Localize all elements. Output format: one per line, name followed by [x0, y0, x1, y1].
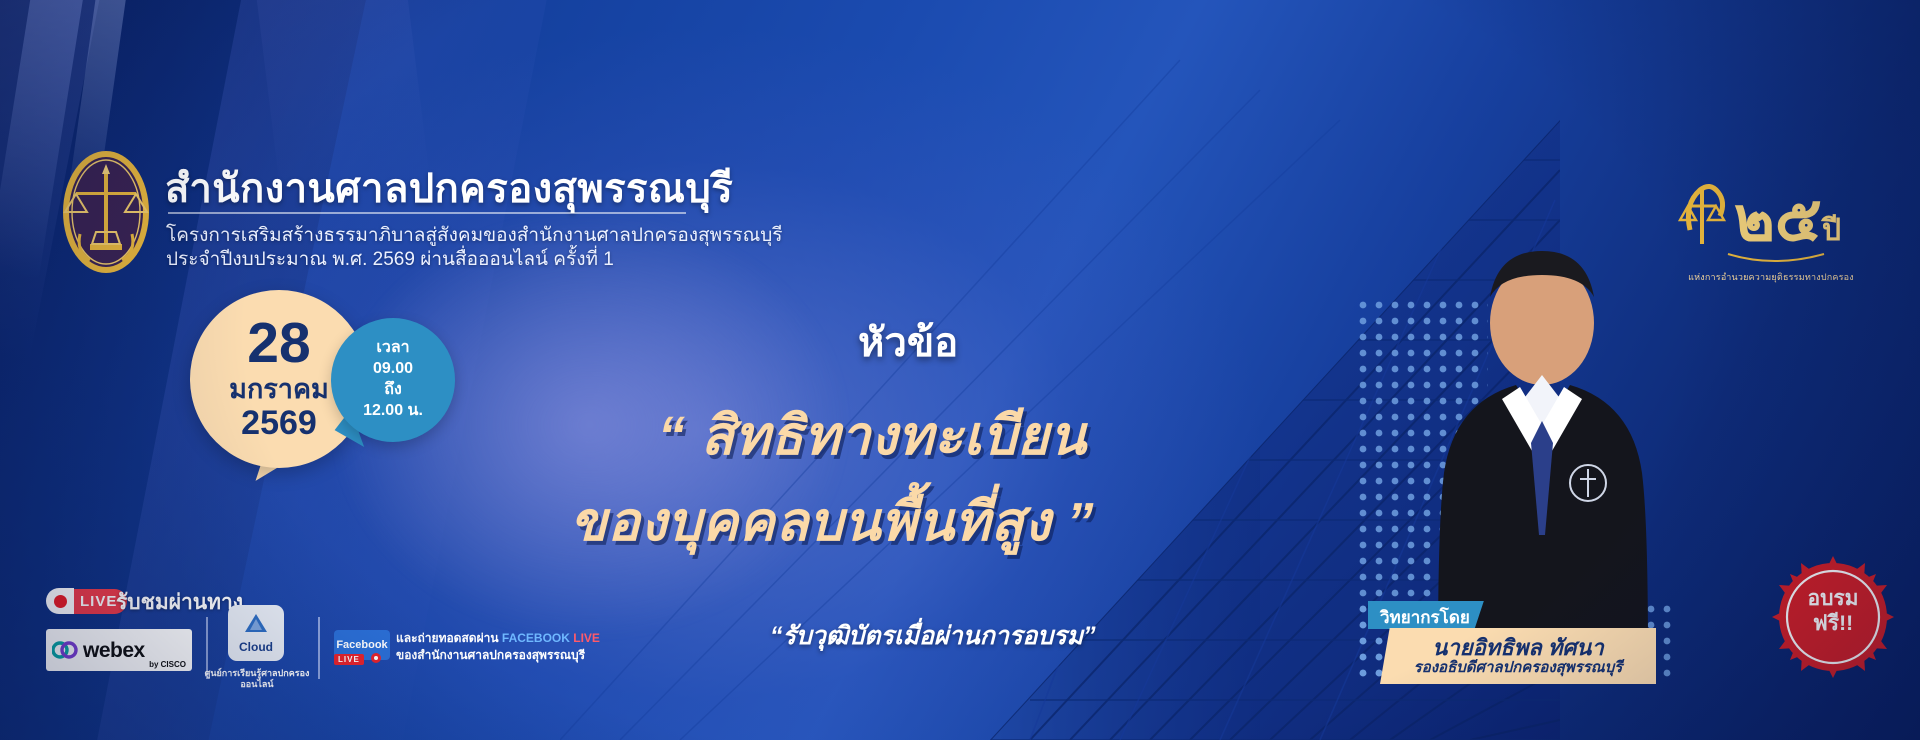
separator-2: [318, 617, 320, 679]
speaker-name: นายอิทธิพล ทัศนา: [1432, 636, 1603, 660]
topic-line-2: ของบุคคลบนพื้นที่สูง ”: [570, 478, 1094, 564]
facebook-badge-label: Facebook: [336, 639, 387, 651]
facebook-text-highlight: FACEBOOK: [502, 631, 573, 645]
facebook-text-highlight2: LIVE: [573, 631, 600, 645]
anniversary-caption: แห่งการอำนวยความยุติธรรมทางปกครอง: [1668, 270, 1874, 284]
cloud-platform-logo[interactable]: Cloud: [228, 605, 284, 661]
speaker-position: รองอธิบดีศาลปกครองสุพรรณบุรี: [1414, 659, 1623, 676]
time-to: ถึง: [384, 380, 402, 401]
time-end: 12.00 น.: [363, 401, 423, 422]
event-time-bubble: เวลา 09.00 ถึง 12.00 น.: [331, 318, 455, 442]
page-title: สำนักงานศาลปกครองสุพรรณบุรี: [165, 156, 733, 220]
title-divider: [168, 212, 686, 214]
date-day: 28: [247, 316, 310, 372]
date-year: 2569: [241, 406, 317, 442]
webex-logo[interactable]: webex by CISCO: [46, 629, 192, 671]
svg-text:ปี: ปี: [1820, 213, 1841, 248]
webex-wordmark: webex: [83, 640, 145, 661]
cloud-caption: ศูนย์การเรียนรู้ศาลปกครองออนไลน์: [190, 668, 324, 690]
facebook-text-prefix: และถ่ายทอดสดผ่าน: [396, 631, 502, 645]
topic-line-1: “ สิทธิทางทะเบียน: [658, 392, 1087, 478]
free-training-seal-icon: [1768, 552, 1898, 682]
speaker-portrait-icon: [1392, 225, 1692, 655]
speaker-name-plate: นายอิทธิพล ทัศนา รองอธิบดีศาลปกครองสุพรร…: [1380, 628, 1656, 684]
facebook-live-dot-icon: [371, 653, 381, 663]
webex-by-cisco: by CISCO: [149, 660, 186, 669]
subtitle-line-2: ประจำปีงบประมาณ พ.ศ. 2569 ผ่านสื่อออนไลน…: [166, 244, 614, 274]
certificate-note: “รับวุฒิบัตรเมื่อผ่านการอบรม”: [770, 616, 1096, 656]
speaker-role-label: วิทยากรโดย: [1368, 601, 1484, 629]
cloud-platform-icon: [243, 612, 269, 639]
cloud-label: Cloud: [239, 640, 273, 654]
facebook-broadcast-line-2: ของสำนักงานศาลปกครองสุพรรณบุรี: [396, 646, 585, 665]
webex-logo-icon: [52, 641, 78, 659]
date-month: มกราคม: [229, 374, 329, 406]
svg-text:๒๕: ๒๕: [1734, 182, 1822, 255]
event-banner: สำนักงานศาลปกครองสุพรรณบุรี โครงการเสริม…: [0, 0, 1920, 740]
25-year-anniversary-emblem-icon: ๒๕ ปี: [1672, 168, 1868, 280]
topic-label: หัวข้อ: [858, 310, 958, 374]
record-dot-icon: [46, 588, 74, 614]
court-emblem-icon: [60, 148, 152, 276]
watch-via-label: รับชมผ่านทาง: [116, 586, 243, 619]
time-label: เวลา: [376, 338, 409, 359]
time-start: 09.00: [373, 359, 413, 380]
facebook-live-tag: LIVE: [334, 654, 364, 665]
